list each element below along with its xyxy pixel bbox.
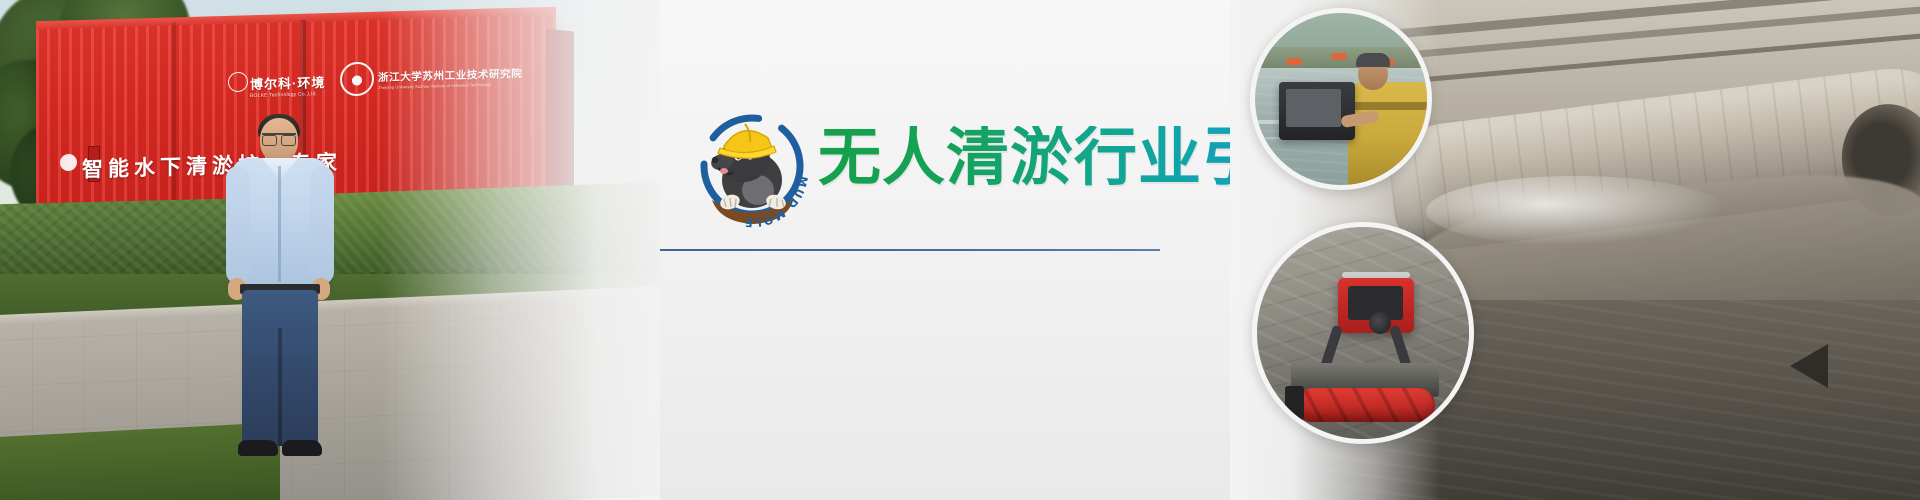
orange-float <box>1286 58 1302 65</box>
right-shoe <box>282 440 322 456</box>
left-photo: 博尔科·环境 BOLKE Technology Co.,Ltd. 浙江大学苏州工… <box>0 0 660 500</box>
right-photo-group <box>1230 0 1920 500</box>
engineer-figure <box>226 118 336 448</box>
glasses-icon <box>262 133 296 144</box>
brand-cn: 博尔科·环境 <box>250 75 325 92</box>
foam <box>1426 176 1726 246</box>
left-shoe <box>238 440 278 456</box>
left-arm <box>226 166 250 284</box>
shirt-placket <box>278 166 281 282</box>
operator-torso <box>1348 82 1427 185</box>
mud-mole-logo: MUD MOLE <box>688 102 816 230</box>
trouser-seam <box>278 328 282 446</box>
operator-cap <box>1356 53 1390 67</box>
center-content: MUD MOLE 无人清淤行业引领者 <box>660 0 1260 500</box>
left-photo-fade <box>380 0 660 500</box>
auger-end-cap <box>1285 386 1304 420</box>
control-screen <box>1286 89 1341 127</box>
red-auger-head <box>1295 388 1435 422</box>
orange-float <box>1331 53 1347 60</box>
flow-arrow-icon <box>1790 344 1828 388</box>
container-brand-name: 博尔科·环境 BOLKE Technology Co.,Ltd. <box>250 72 325 99</box>
robot-wheel <box>1369 312 1391 334</box>
robot-top-bar <box>1342 272 1410 278</box>
headline-divider <box>660 249 1160 251</box>
right-arm <box>310 166 334 284</box>
shirt-stripe <box>1348 102 1427 110</box>
red-dredging-robot-photo <box>1252 222 1474 444</box>
hero-banner: 博尔科·环境 BOLKE Technology Co.,Ltd. 浙江大学苏州工… <box>0 0 1920 500</box>
operator-with-remote-controller-photo <box>1250 8 1432 190</box>
